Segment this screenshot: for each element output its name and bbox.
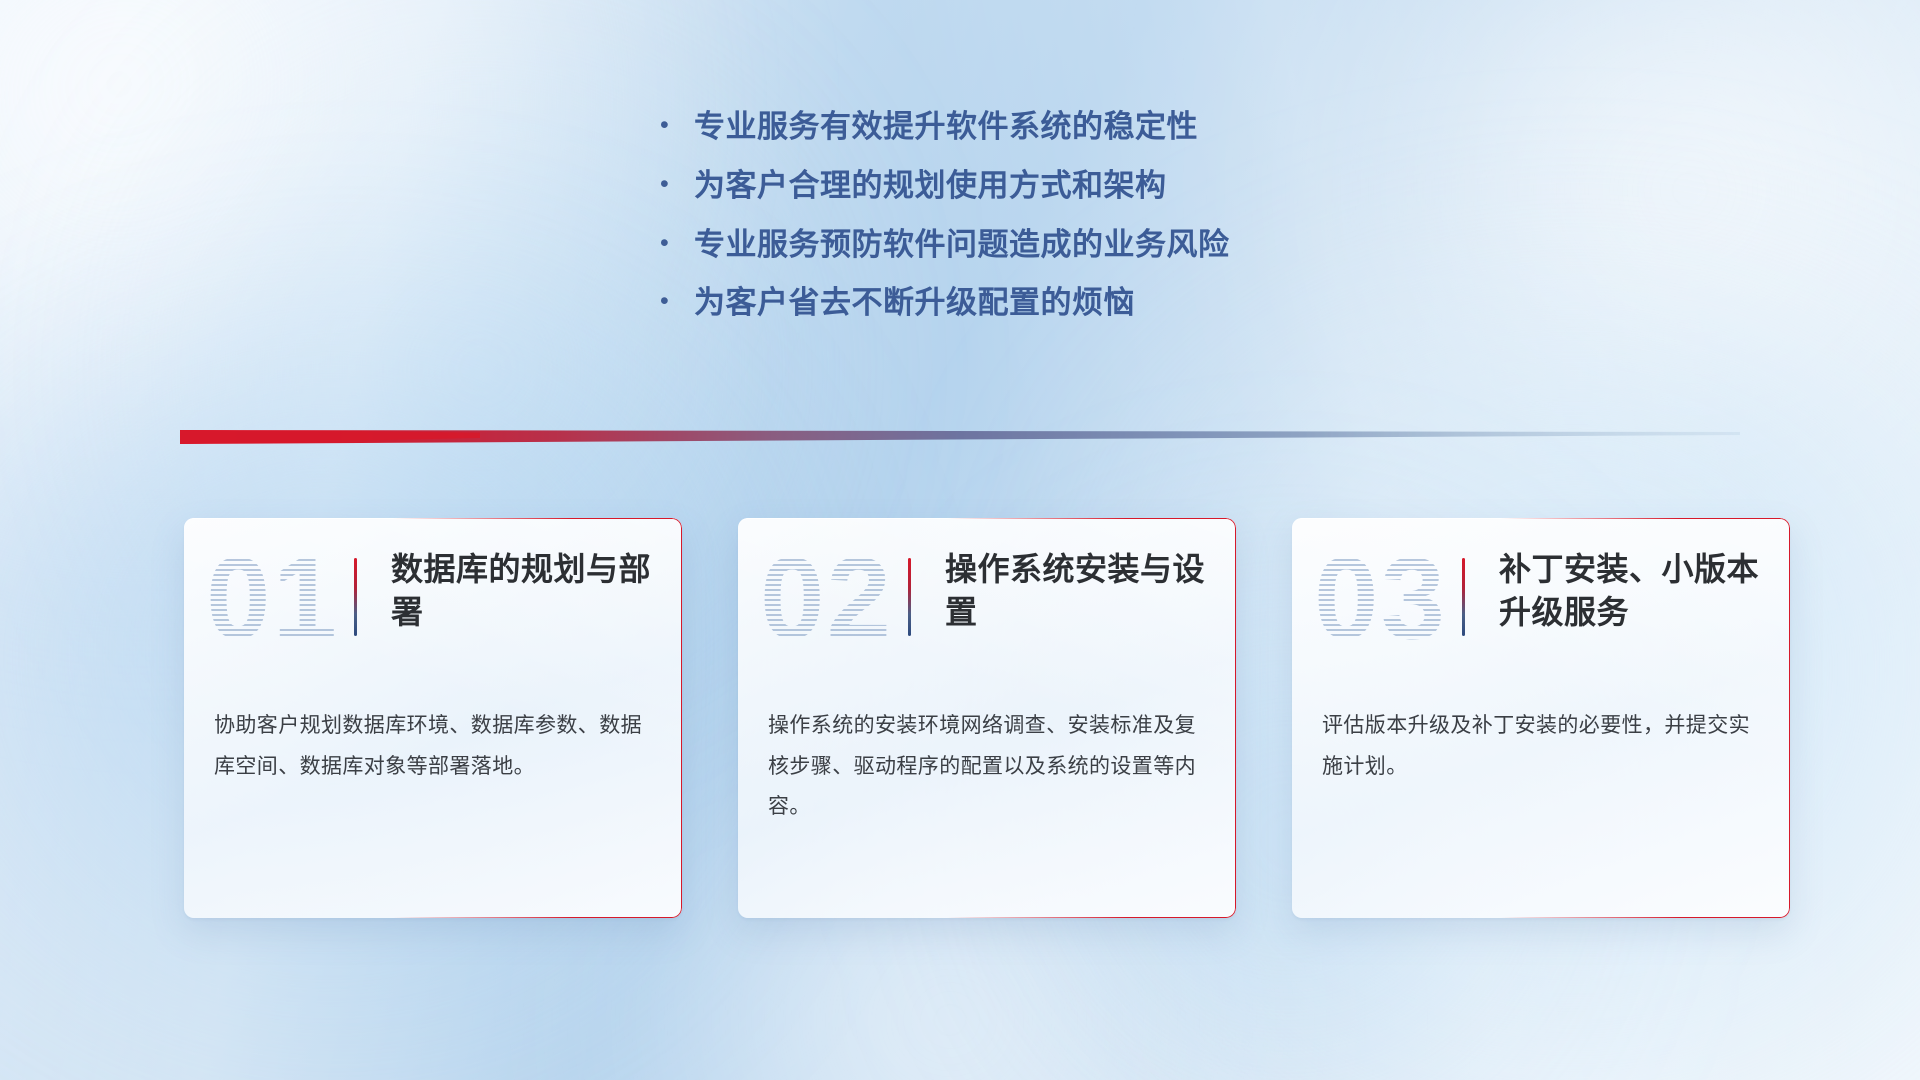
- list-item: 专业服务有效提升软件系统的稳定性: [660, 108, 1560, 146]
- divider-wedge-shape: [180, 424, 1740, 450]
- bullet-dot-icon: [660, 289, 694, 314]
- bullet-dot-icon: [660, 113, 694, 138]
- card-header: 01 数据库的规划与部署: [184, 518, 682, 680]
- section-divider: [180, 424, 1740, 450]
- card-title-rule: [354, 558, 357, 636]
- card-header: 02 操作系统安装与设置: [738, 518, 1236, 680]
- card-header: 03 补丁安装、小版本升级服务: [1292, 518, 1790, 680]
- service-card-01[interactable]: 01 数据库的规划与部署 协助客户规划数据库环境、数据库参数、数据库空间、数据库…: [184, 518, 682, 918]
- background-glow-top-left: [0, 0, 640, 550]
- bullet-dot-icon: [660, 231, 694, 256]
- card-title: 补丁安装、小版本升级服务: [1499, 548, 1769, 633]
- card-number-watermark: 03: [1314, 540, 1447, 656]
- card-title: 操作系统安装与设置: [945, 548, 1215, 633]
- bullet-dot-icon: [660, 172, 694, 197]
- service-cards-row: 01 数据库的规划与部署 协助客户规划数据库环境、数据库参数、数据库空间、数据库…: [184, 518, 1794, 918]
- bullet-text: 专业服务预防软件问题造成的业务风险: [694, 226, 1230, 264]
- list-item: 为客户合理的规划使用方式和架构: [660, 167, 1560, 205]
- benefits-bullet-list: 专业服务有效提升软件系统的稳定性 为客户合理的规划使用方式和架构 专业服务预防软…: [660, 108, 1560, 343]
- service-card-03[interactable]: 03 补丁安装、小版本升级服务 评估版本升级及补丁安装的必要性，并提交实施计划。: [1292, 518, 1790, 918]
- service-card-02[interactable]: 02 操作系统安装与设置 操作系统的安装环境网络调查、安装标准及复核步骤、驱动程…: [738, 518, 1236, 918]
- card-title: 数据库的规划与部署: [391, 548, 661, 633]
- card-title-rule: [1462, 558, 1465, 636]
- list-item: 专业服务预防软件问题造成的业务风险: [660, 226, 1560, 264]
- card-body-text: 评估版本升级及补丁安装的必要性，并提交实施计划。: [1322, 706, 1764, 787]
- card-body-text: 协助客户规划数据库环境、数据库参数、数据库空间、数据库对象等部署落地。: [214, 706, 656, 787]
- bullet-text: 为客户合理的规划使用方式和架构: [694, 167, 1167, 205]
- card-title-rule: [908, 558, 911, 636]
- bullet-text: 为客户省去不断升级配置的烦恼: [694, 284, 1135, 322]
- list-item: 为客户省去不断升级配置的烦恼: [660, 284, 1560, 322]
- card-number-watermark: 01: [206, 540, 339, 656]
- bullet-text: 专业服务有效提升软件系统的稳定性: [694, 108, 1198, 146]
- card-number-watermark: 02: [760, 540, 893, 656]
- card-body-text: 操作系统的安装环境网络调查、安装标准及复核步骤、驱动程序的配置以及系统的设置等内…: [768, 706, 1210, 828]
